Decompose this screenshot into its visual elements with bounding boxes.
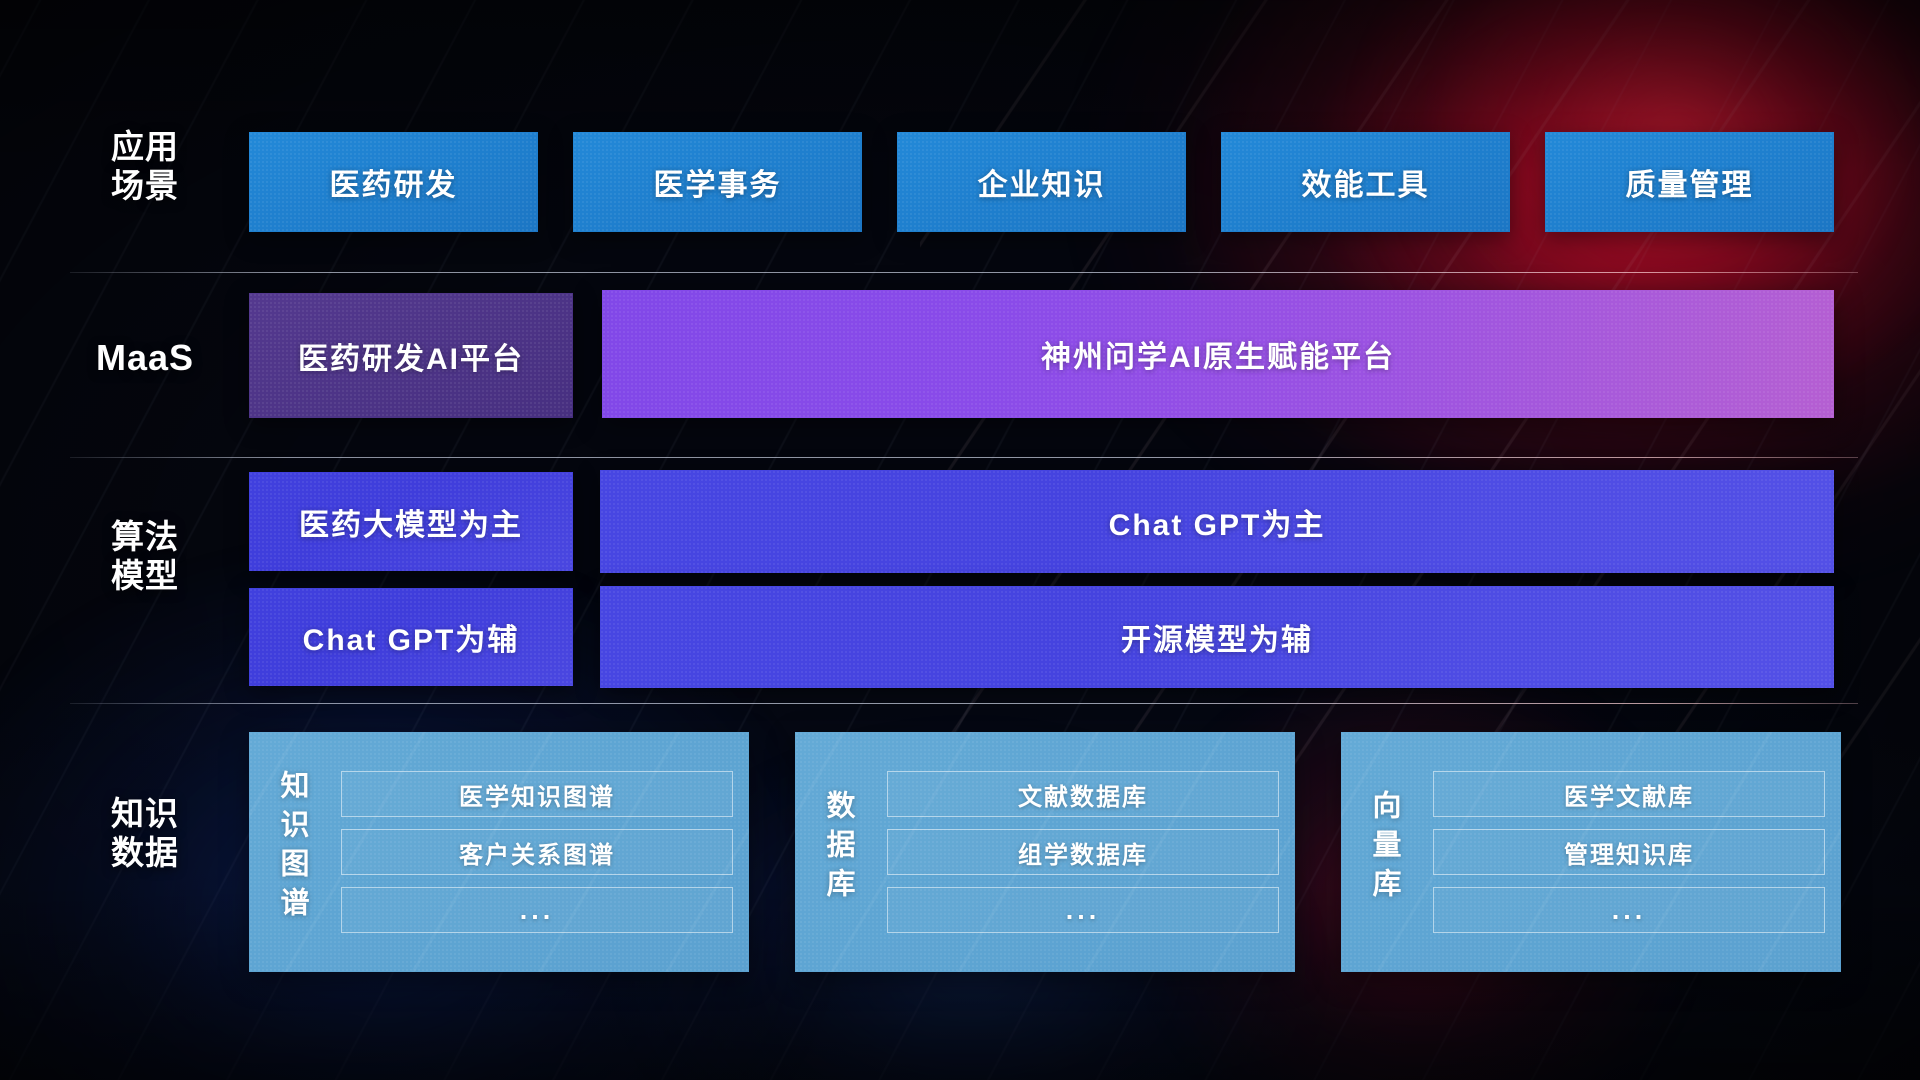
app-box-medical-affairs[interactable]: 医学事务 — [573, 132, 862, 232]
knowledge-item[interactable]: 医学文献库 — [1433, 771, 1825, 817]
knowledge-panel-vertical-label: 数据库 — [795, 732, 881, 972]
row-label-knowledge-line1: 知识 — [70, 795, 220, 834]
row-label-maas-text: MaaS — [70, 337, 220, 379]
row-label-application: 应用 场景 — [70, 128, 220, 206]
app-box-efficiency-tools[interactable]: 效能工具 — [1221, 132, 1510, 232]
knowledge-panel-vector-store[interactable]: 向量库 医学文献库 管理知识库 ... — [1341, 732, 1841, 972]
algo-box-label: 医药大模型为主 — [299, 500, 523, 544]
knowledge-item-more[interactable]: ... — [341, 887, 733, 933]
app-box-enterprise-knowledge[interactable]: 企业知识 — [897, 132, 1186, 232]
divider-algorithm-knowledge — [70, 703, 1858, 704]
knowledge-item[interactable]: 客户关系图谱 — [341, 829, 733, 875]
algo-box-label: Chat GPT为辅 — [303, 615, 520, 659]
app-box-medicine-rd[interactable]: 医药研发 — [249, 132, 538, 232]
app-box-label: 企业知识 — [978, 160, 1106, 204]
knowledge-item[interactable]: 管理知识库 — [1433, 829, 1825, 875]
divider-application-maas — [70, 272, 1858, 273]
maas-box-medicine-ai-platform[interactable]: 医药研发AI平台 — [249, 293, 573, 418]
app-box-label: 医药研发 — [330, 160, 458, 204]
row-label-algorithm-line1: 算法 — [70, 518, 220, 557]
row-label-algorithm-line2: 模型 — [70, 557, 220, 596]
row-label-knowledge-line2: 数据 — [70, 834, 220, 873]
knowledge-item[interactable]: 组学数据库 — [887, 829, 1279, 875]
algo-box-chatgpt-secondary[interactable]: Chat GPT为辅 — [249, 588, 573, 686]
row-label-application-line1: 应用 — [70, 128, 220, 167]
architecture-diagram: 应用 场景 医药研发 医学事务 企业知识 效能工具 质量管理 MaaS 医药研发… — [0, 0, 1920, 1080]
app-box-label: 质量管理 — [1626, 160, 1754, 204]
app-box-label: 效能工具 — [1302, 160, 1430, 204]
maas-box-shenzhou-platform[interactable]: 神州问学AI原生赋能平台 — [602, 290, 1834, 418]
row-label-algorithm: 算法 模型 — [70, 518, 220, 596]
knowledge-panel-vertical-label: 知识图谱 — [249, 732, 335, 972]
maas-right-label: 神州问学AI原生赋能平台 — [1041, 332, 1395, 376]
knowledge-panel-item-list: 医学文献库 管理知识库 ... — [1427, 732, 1841, 972]
divider-maas-algorithm — [70, 457, 1858, 458]
algo-box-chatgpt-primary[interactable]: Chat GPT为主 — [600, 470, 1834, 573]
knowledge-panel-item-list: 医学知识图谱 客户关系图谱 ... — [335, 732, 749, 972]
knowledge-item-more[interactable]: ... — [887, 887, 1279, 933]
row-label-application-line2: 场景 — [70, 167, 220, 206]
knowledge-panel-database[interactable]: 数据库 文献数据库 组学数据库 ... — [795, 732, 1295, 972]
knowledge-panel-item-list: 文献数据库 组学数据库 ... — [881, 732, 1295, 972]
row-label-knowledge: 知识 数据 — [70, 795, 220, 873]
algo-box-label: 开源模型为辅 — [1121, 615, 1313, 659]
app-box-label: 医学事务 — [654, 160, 782, 204]
knowledge-item[interactable]: 文献数据库 — [887, 771, 1279, 817]
maas-left-label: 医药研发AI平台 — [298, 334, 524, 378]
knowledge-panel-graph[interactable]: 知识图谱 医学知识图谱 客户关系图谱 ... — [249, 732, 749, 972]
knowledge-item[interactable]: 医学知识图谱 — [341, 771, 733, 817]
app-box-quality-management[interactable]: 质量管理 — [1545, 132, 1834, 232]
knowledge-item-more[interactable]: ... — [1433, 887, 1825, 933]
algo-box-opensource-secondary[interactable]: 开源模型为辅 — [600, 586, 1834, 688]
row-label-maas: MaaS — [70, 337, 220, 379]
algo-box-label: Chat GPT为主 — [1109, 500, 1326, 544]
algo-box-medicine-llm-primary[interactable]: 医药大模型为主 — [249, 472, 573, 571]
knowledge-panel-vertical-label: 向量库 — [1341, 732, 1427, 972]
